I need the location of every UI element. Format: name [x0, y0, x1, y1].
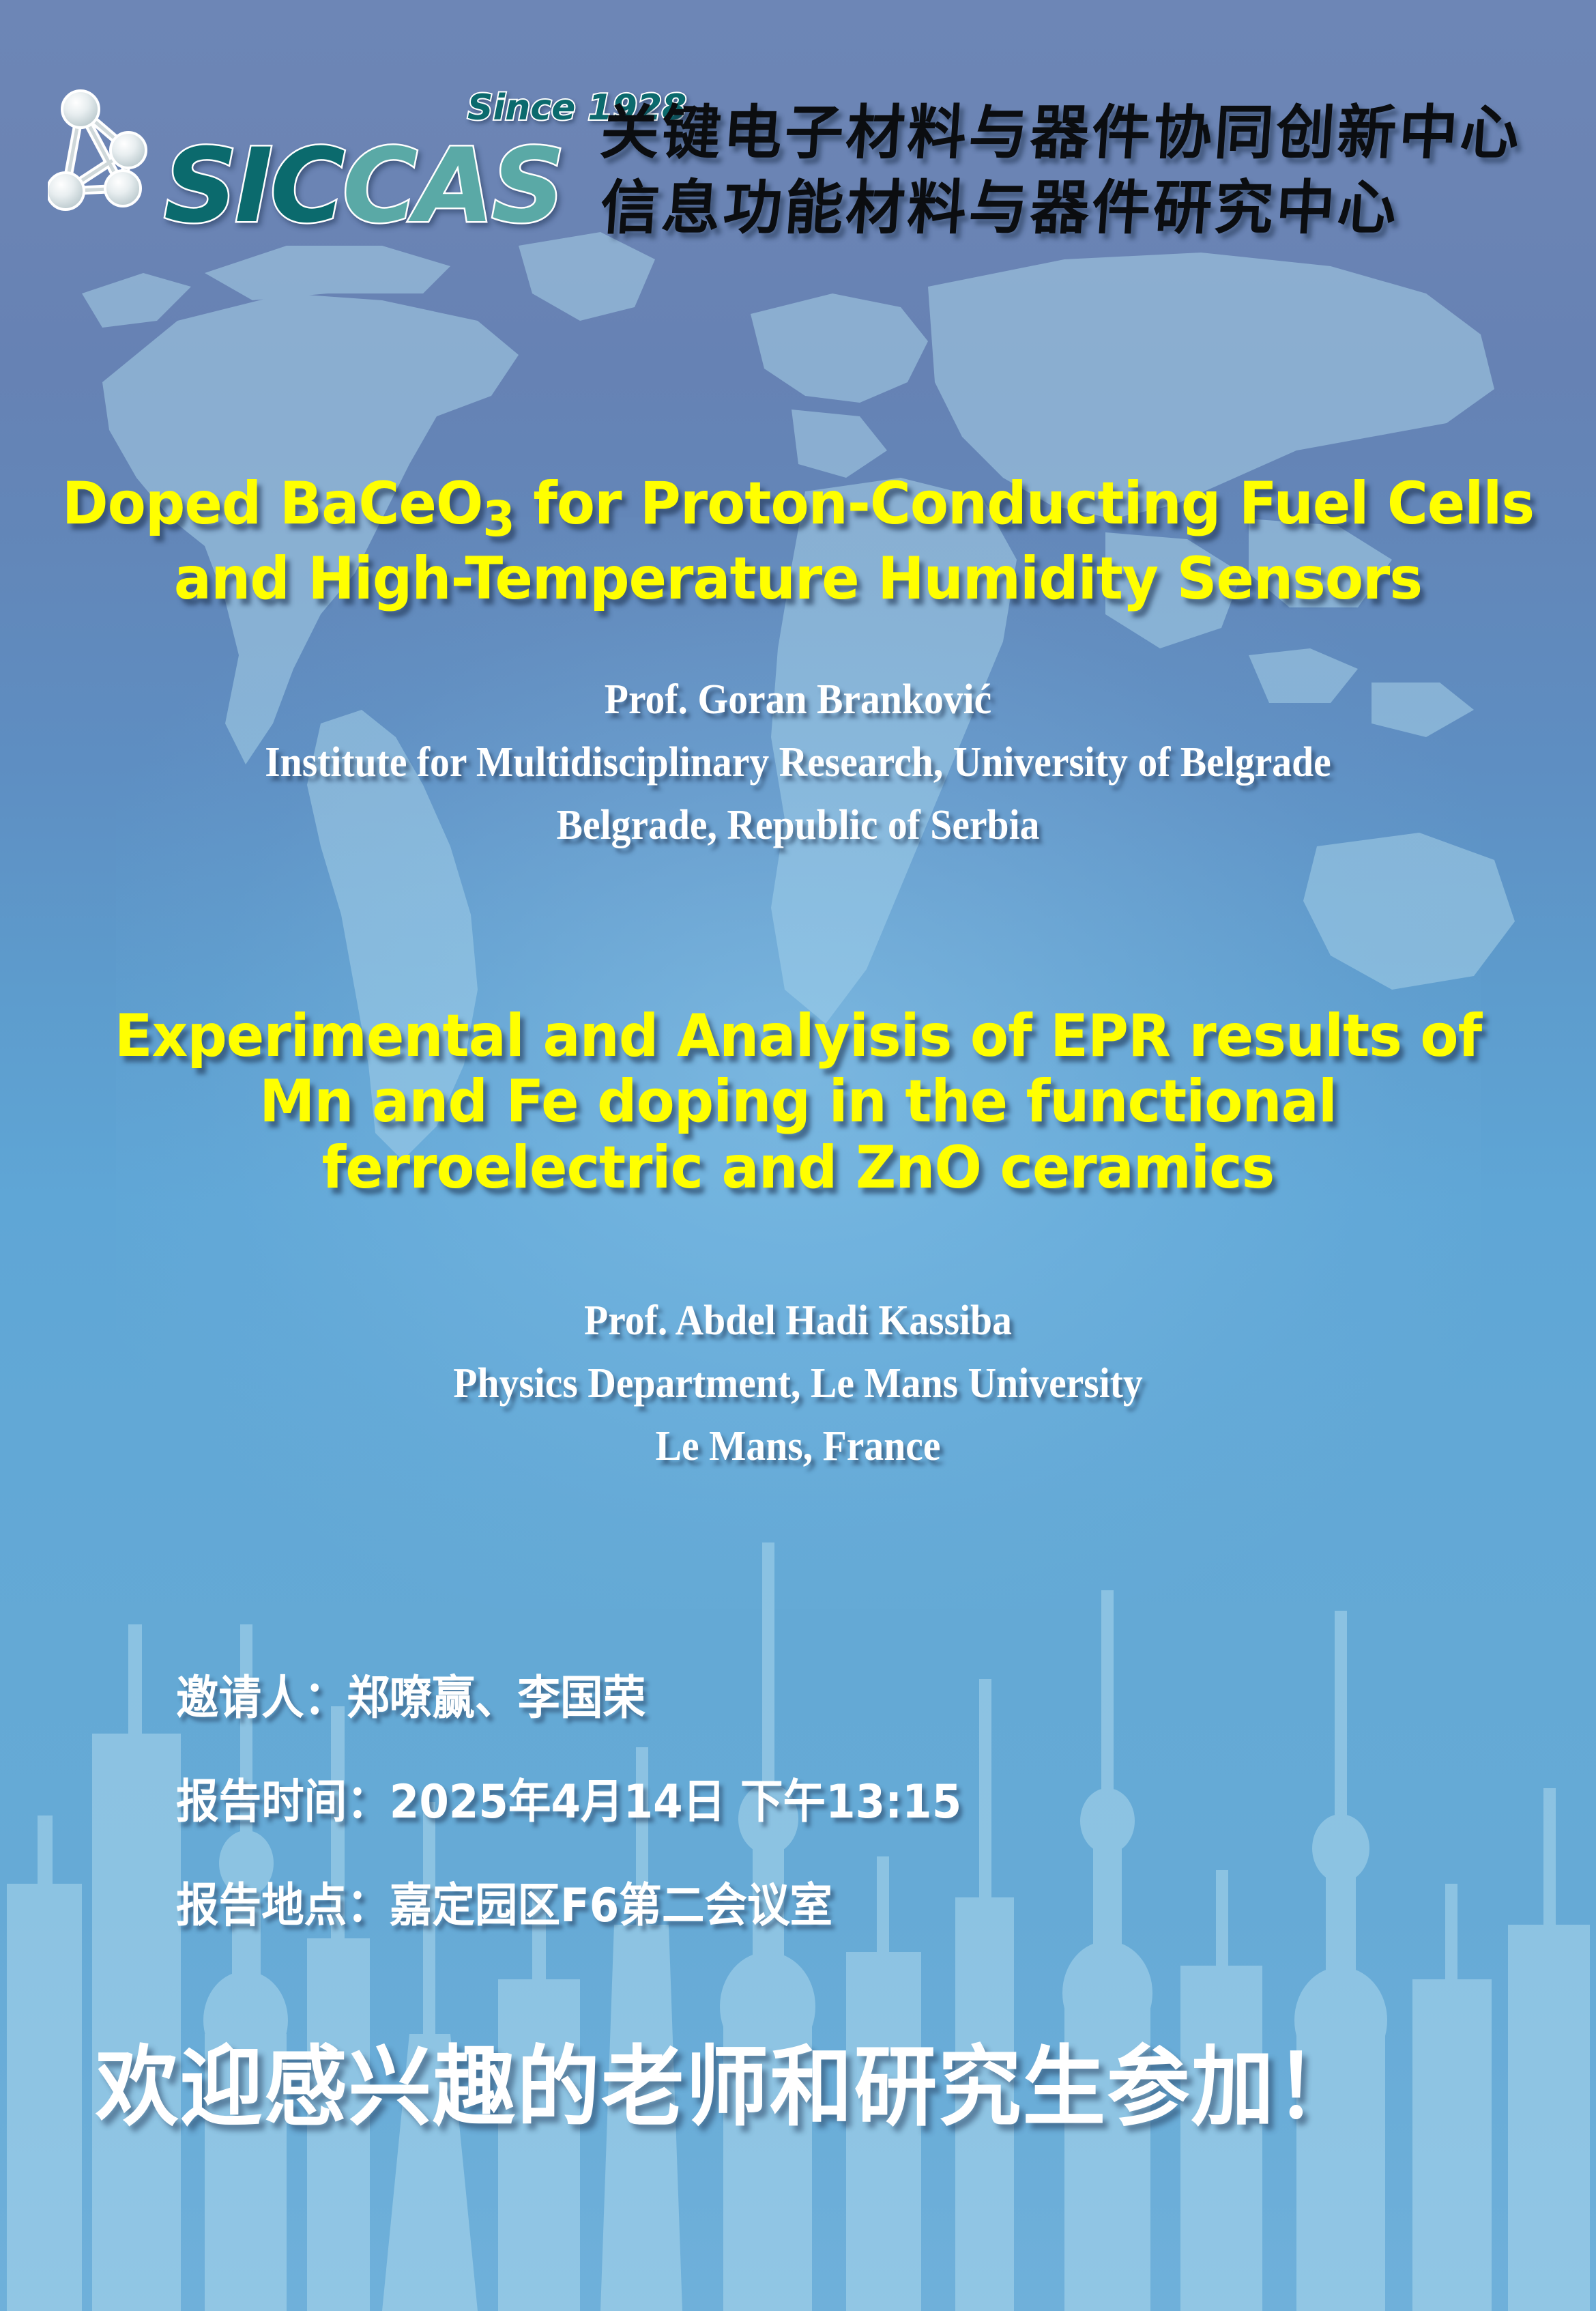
siccas-logo: Since 1928 SICCAS: [48, 82, 587, 239]
logo-cas-text: CAS: [343, 127, 562, 246]
talk-1-title-line-1: Doped BaCeO3 for Proton-Conducting Fuel …: [40, 471, 1556, 546]
event-venue-row: 报告地点：嘉定园区F6第二会议室: [176, 1883, 961, 1929]
seminar-poster: Since 1928 SICCAS 关键电子材料与器件协同创新中心 信息功能材料…: [0, 0, 1596, 2311]
event-host-row: 邀请人：郑嘹赢、李国荣: [176, 1676, 961, 1722]
talk-2-title: Experimental and Analyisis of EPR result…: [40, 1003, 1556, 1201]
talk-1-title-subscript: 3: [482, 490, 514, 547]
center-name-line-1: 关键电子材料与器件协同创新中心: [598, 96, 1524, 171]
talk-1-title-formula-lead: Doped BaCeO: [62, 470, 483, 538]
center-name-chinese: 关键电子材料与器件协同创新中心 信息功能材料与器件研究中心: [600, 96, 1522, 246]
event-details: 邀请人：郑嘹赢、李国荣 报告时间：2025年4月14日 下午13:15 报告地点…: [176, 1676, 961, 1929]
talk-1-title-line-1-rest: for Proton-Conducting Fuel Cells: [514, 470, 1534, 538]
talk-2-speaker-name: Prof. Abdel Hadi Kassiba: [56, 1290, 1540, 1353]
talk-1-speaker-name: Prof. Goran Branković: [56, 669, 1540, 732]
talk-2-speaker-location: Le Mans, France: [56, 1416, 1540, 1478]
talk-1-speaker-affiliation: Institute for Multidisciplinary Research…: [56, 732, 1540, 794]
talk-2-speaker-affiliation: Physics Department, Le Mans University: [56, 1353, 1540, 1416]
center-name-line-2: 信息功能材料与器件研究中心: [598, 171, 1524, 246]
talk-2-title-line-2: Mn and Fe doping in the functional: [40, 1069, 1556, 1134]
logo-sic-text: SIC: [164, 127, 343, 246]
talk-2-title-line-3: ferroelectric and ZnO ceramics: [40, 1135, 1556, 1201]
event-time-row: 报告时间：2025年4月14日 下午13:15: [176, 1779, 961, 1826]
talk-1-speaker-block: Prof. Goran Branković Institute for Mult…: [56, 669, 1540, 857]
poster-header: Since 1928 SICCAS 关键电子材料与器件协同创新中心 信息功能材料…: [0, 0, 1596, 273]
talk-1-title: Doped BaCeO3 for Proton-Conducting Fuel …: [40, 471, 1556, 612]
talk-1-title-line-2: and High-Temperature Humidity Sensors: [40, 546, 1556, 612]
talk-2-title-line-1: Experimental and Analyisis of EPR result…: [40, 1003, 1556, 1069]
talk-2-speaker-block: Prof. Abdel Hadi Kassiba Physics Departm…: [56, 1290, 1540, 1478]
logo-wordmark: SICCAS: [164, 135, 562, 238]
talk-1-speaker-location: Belgrade, Republic of Serbia: [56, 794, 1540, 857]
welcome-message: 欢迎感兴趣的老师和研究生参加！: [96, 2044, 1360, 2131]
